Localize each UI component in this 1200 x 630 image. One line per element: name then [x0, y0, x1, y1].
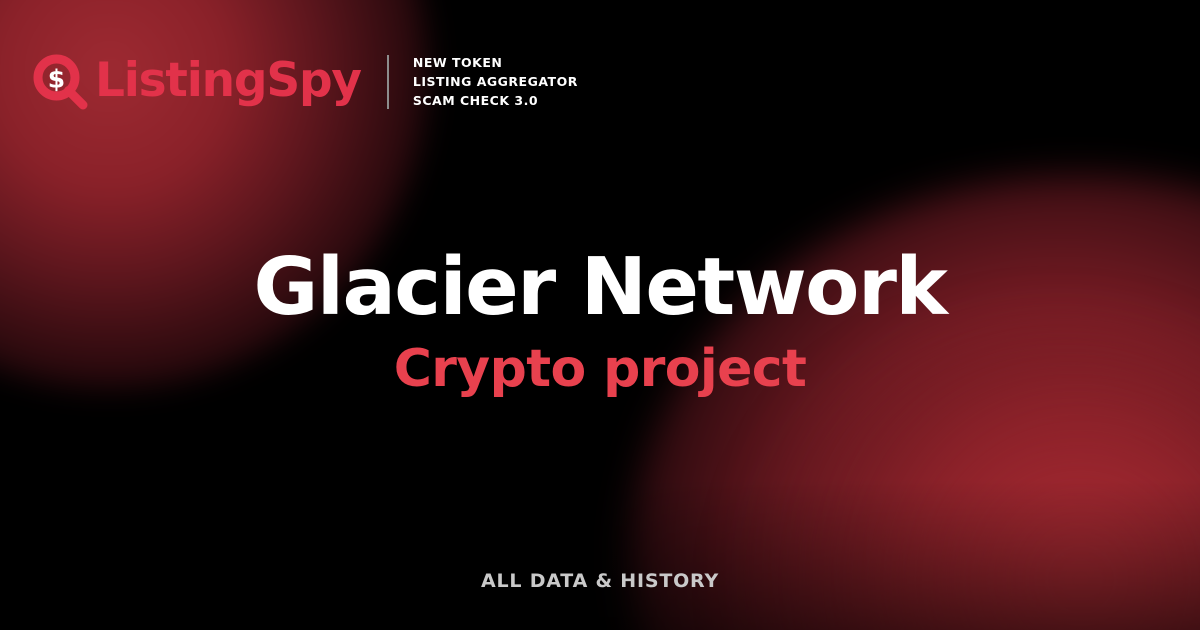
tagline-line-3: SCAM CHECK 3.0: [413, 91, 578, 110]
brand-wordmark: ListingSpy: [95, 57, 361, 104]
footer-block: ALL DATA & HISTORY: [0, 570, 1200, 592]
tagline-line-1: NEW TOKEN: [413, 53, 578, 72]
hero-block: Glacier Network Crypto project: [0, 246, 1200, 397]
brand-tagline: NEW TOKEN LISTING AGGREGATOR SCAM CHECK …: [413, 53, 578, 110]
bottom-fade-overlay: [0, 480, 1200, 630]
svg-text:$: $: [48, 64, 65, 93]
tagline-line-2: LISTING AGGREGATOR: [413, 72, 578, 91]
page-subtitle: Crypto project: [0, 342, 1200, 397]
brand-header[interactable]: $ ListingSpy NEW TOKEN LISTING AGGREGATO…: [33, 53, 578, 110]
header-divider: [387, 55, 389, 109]
page-title: Glacier Network: [0, 246, 1200, 328]
magnifier-dollar-icon: $: [33, 54, 89, 110]
og-card: $ ListingSpy NEW TOKEN LISTING AGGREGATO…: [0, 0, 1200, 630]
footer-caption: ALL DATA & HISTORY: [481, 570, 719, 592]
